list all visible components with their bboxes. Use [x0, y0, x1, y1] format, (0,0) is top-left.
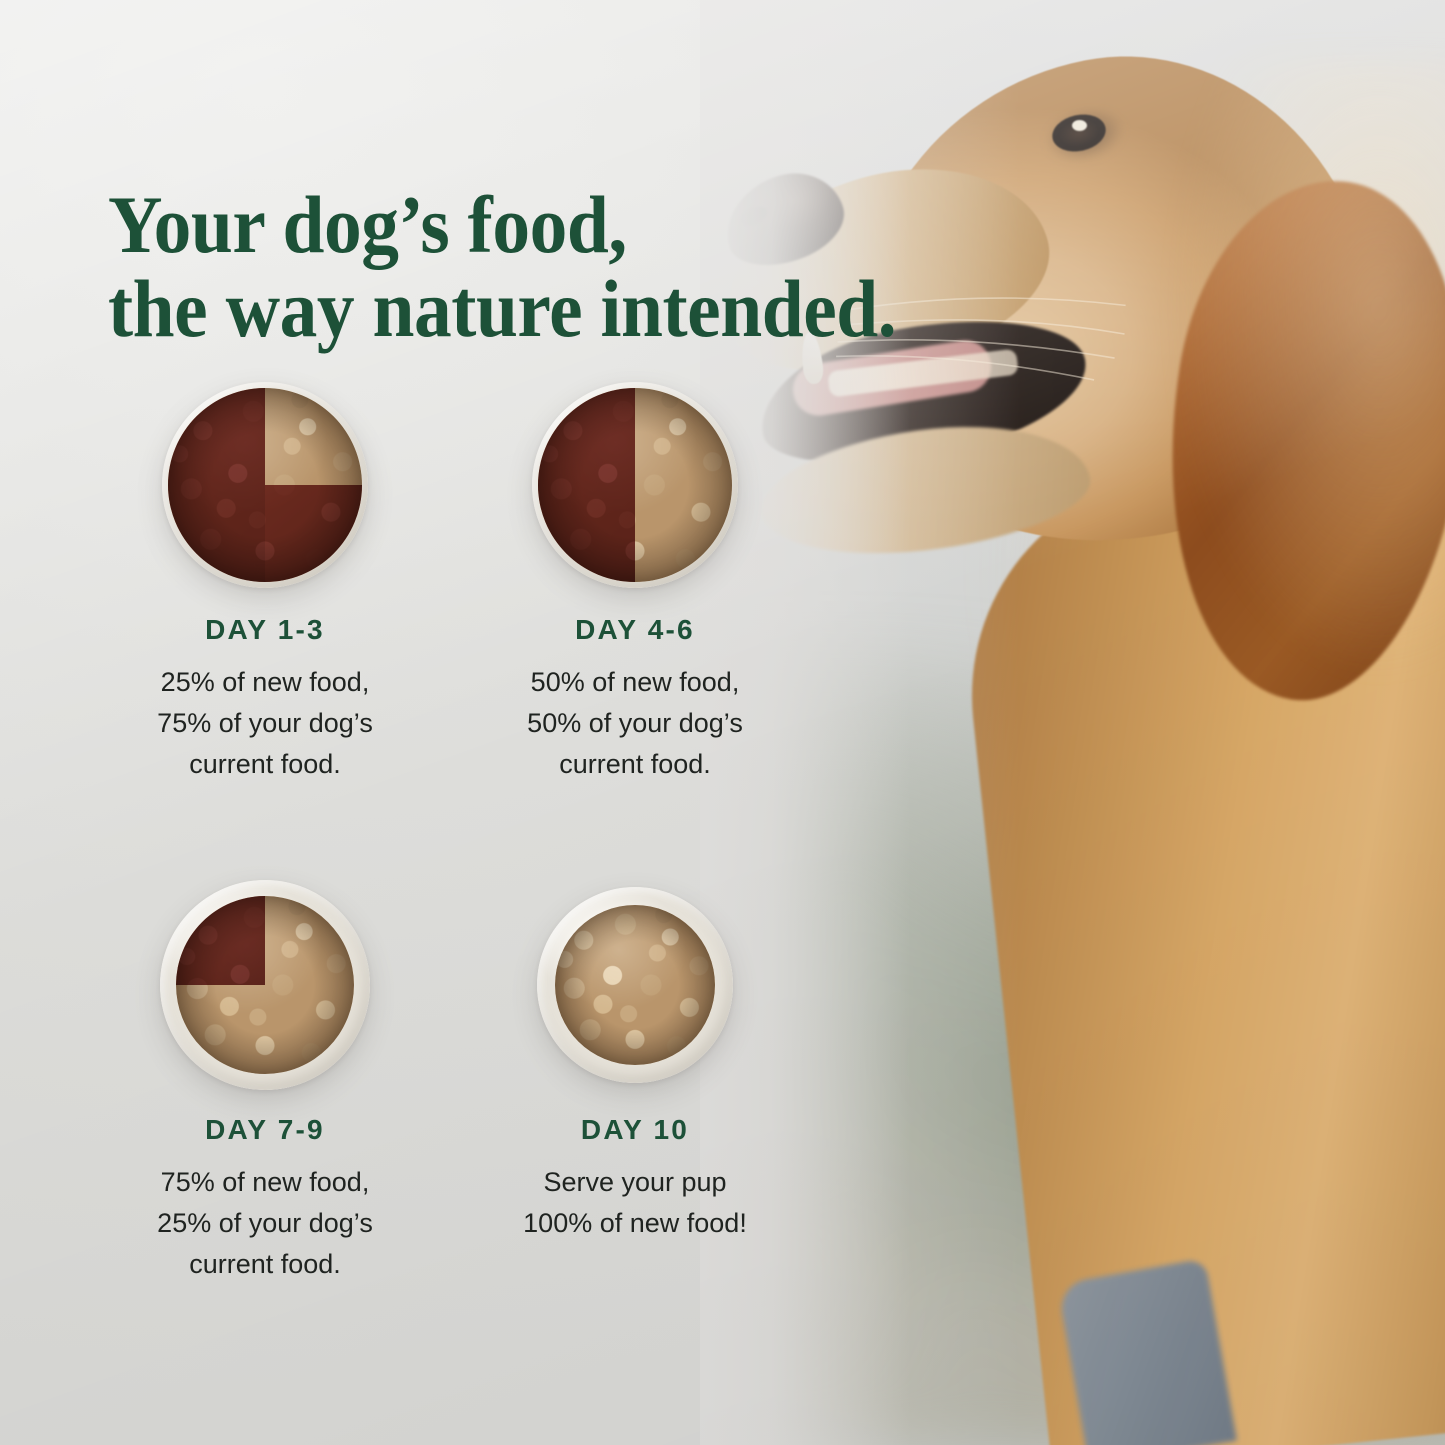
step-day-7-9: DAY 7-9 75% of new food, 25% of your dog…: [80, 878, 450, 1285]
step-day-4-6: DAY 4-6 50% of new food, 50% of your dog…: [450, 378, 820, 785]
desc-line-3: current food.: [80, 744, 450, 785]
desc-line-2: 75% of your dog’s: [80, 703, 450, 744]
kibble-fill: [538, 388, 732, 582]
step-description: 25% of new food, 75% of your dog’s curre…: [80, 662, 450, 785]
dog-bowl-icon: [160, 880, 370, 1090]
day-label: DAY 10: [450, 1114, 820, 1146]
dog-bowl-icon: [532, 382, 738, 588]
desc-line-1: 25% of new food,: [80, 662, 450, 703]
kibble-fill: [555, 905, 715, 1065]
desc-line-2: 100% of new food!: [450, 1203, 820, 1244]
kibble-fill: [176, 896, 354, 1074]
desc-line-2: 50% of your dog’s: [450, 703, 820, 744]
day-label: DAY 4-6: [450, 614, 820, 646]
desc-line-1: 75% of new food,: [80, 1162, 450, 1203]
bowl-wrap-4: [450, 878, 820, 1092]
step-description: Serve your pup 100% of new food!: [450, 1162, 820, 1244]
step-day-10: DAY 10 Serve your pup 100% of new food!: [450, 878, 820, 1244]
step-day-1-3: DAY 1-3 25% of new food, 75% of your dog…: [80, 378, 450, 785]
dog-bowl-icon: [162, 382, 368, 588]
step-description: 50% of new food, 50% of your dog’s curre…: [450, 662, 820, 785]
day-label: DAY 7-9: [80, 1114, 450, 1146]
dog-bowl-icon: [537, 887, 733, 1083]
desc-line-1: Serve your pup: [450, 1162, 820, 1203]
desc-line-1: 50% of new food,: [450, 662, 820, 703]
bowl-wrap-1: [80, 378, 450, 592]
promo-graphic: Your dog’s food, the way nature intended…: [0, 0, 1445, 1445]
bowl-wrap-2: [450, 378, 820, 592]
bowl-wrap-3: [80, 878, 450, 1092]
desc-line-2: 25% of your dog’s: [80, 1203, 450, 1244]
kibble-fill: [168, 388, 362, 582]
desc-line-3: current food.: [80, 1244, 450, 1285]
step-description: 75% of new food, 25% of your dog’s curre…: [80, 1162, 450, 1285]
transition-schedule: DAY 1-3 25% of new food, 75% of your dog…: [0, 0, 860, 1445]
day-label: DAY 1-3: [80, 614, 450, 646]
desc-line-3: current food.: [450, 744, 820, 785]
